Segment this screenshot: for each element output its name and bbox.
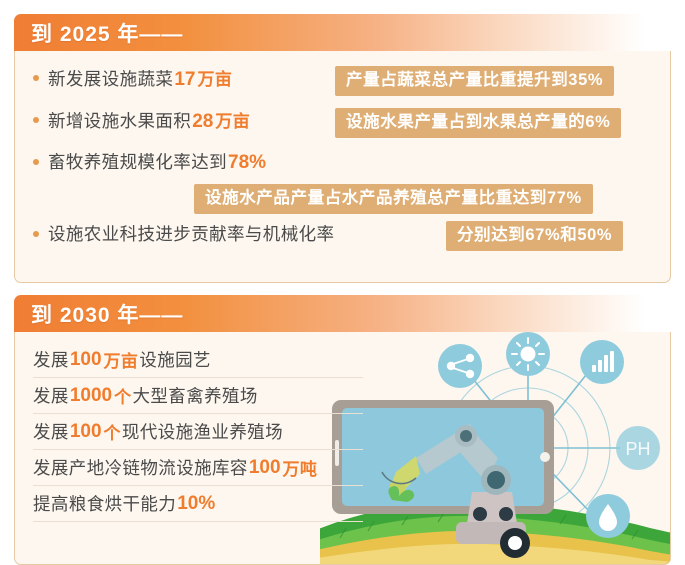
item-number: 100 (69, 421, 103, 443)
badge-2025-2: 设施水果产量占到水果总产量的6% (335, 108, 621, 138)
infographic-page: 到 2025 年—— 新发展设施蔬菜17万亩 产量占蔬菜总产量比重提升到35% … (0, 0, 685, 565)
item-pre: 发展 (33, 419, 69, 444)
row-unit (336, 225, 338, 244)
row-unit: 万亩 (196, 70, 233, 89)
section-2025-body: 新发展设施蔬菜17万亩 产量占蔬菜总产量比重提升到35% 新增设施水果面积28万… (14, 51, 671, 283)
badge-2025-4: 分别达到67%和50% (446, 221, 623, 251)
list-item: 畜牧养殖规模化率达到78% (33, 149, 269, 174)
item-pre: 发展 (33, 347, 69, 372)
row-pre: 新增设施水果面积 (48, 111, 191, 131)
row-text: 新发展设施蔬菜17万亩 (48, 65, 233, 91)
water-drop-icon (586, 494, 630, 538)
row-pre: 设施农业科技进步贡献率与机械化率 (48, 224, 334, 244)
section-2030-card: 到 2030 年—— (14, 295, 671, 565)
section-2030-body: PH 发展100万亩设施园艺 发展1000个大型畜禽养殖场 发 (14, 332, 671, 565)
svg-text:PH: PH (625, 439, 650, 459)
section-2025-header: 到 2025 年—— (14, 14, 671, 51)
item-unit: 个 (103, 419, 122, 444)
row-number: 78% (227, 152, 267, 173)
badge-2025-3: 设施水产品产量占水产品养殖总产量比重达到77% (194, 184, 593, 214)
bullet-dot-icon (33, 117, 39, 123)
section-2025-title: 到 2025 年—— (14, 18, 183, 48)
list-item: 发展1000个大型畜禽养殖场 (33, 378, 363, 414)
section-2030-title: 到 2030 年—— (14, 299, 183, 329)
row-text: 畜牧养殖规模化率达到78% (48, 149, 269, 174)
ph-sensor-icon: PH (616, 426, 660, 470)
item-unit: 万吨 (282, 455, 319, 480)
item-pre: 发展产地冷链物流设施库容 (33, 455, 248, 480)
item-pre: 提高粮食烘干能力 (33, 491, 176, 516)
list-item: 新增设施水果面积28万亩 (33, 107, 251, 133)
row-unit: 万亩 (214, 112, 251, 131)
network-share-icon (438, 344, 482, 388)
item-unit: 个 (113, 383, 132, 408)
list-item: 设施农业科技进步贡献率与机械化率 (33, 221, 338, 246)
item-number: 1000 (69, 385, 113, 407)
list-item: 提高粮食烘干能力10% (33, 486, 363, 522)
row-text: 设施农业科技进步贡献率与机械化率 (48, 221, 338, 246)
bullet-dot-icon (33, 231, 39, 237)
row-unit (267, 153, 269, 172)
item-post: 大型畜禽养殖场 (133, 383, 258, 408)
item-unit: 万亩 (103, 347, 140, 372)
item-number: 10% (176, 493, 216, 515)
signal-bars-icon (580, 340, 624, 384)
smart-agriculture-iot-illustration: PH (320, 332, 670, 565)
section-2030-list: 发展100万亩设施园艺 发展1000个大型畜禽养殖场 发展100个现代设施渔业养… (33, 342, 363, 522)
item-number: 100 (248, 457, 282, 479)
section-2025-card: 到 2025 年—— 新发展设施蔬菜17万亩 产量占蔬菜总产量比重提升到35% … (14, 14, 671, 283)
list-item: 发展100万亩设施园艺 (33, 342, 363, 378)
row-pre: 新发展设施蔬菜 (48, 69, 173, 89)
item-post: 设施园艺 (139, 347, 211, 372)
row-number: 17 (173, 69, 196, 90)
item-number: 100 (69, 349, 103, 371)
sun-icon (506, 332, 550, 376)
list-item: 新发展设施蔬菜17万亩 (33, 65, 233, 91)
list-item: 发展产地冷链物流设施库容100万吨 (33, 450, 363, 486)
badge-2025-1: 产量占蔬菜总产量比重提升到35% (335, 66, 614, 96)
item-pre: 发展 (33, 383, 69, 408)
row-pre: 畜牧养殖规模化率达到 (48, 152, 227, 172)
item-post: 现代设施渔业养殖场 (122, 419, 283, 444)
bullet-dot-icon (33, 75, 39, 81)
list-item: 发展100个现代设施渔业养殖场 (33, 414, 363, 450)
section-2030-header: 到 2030 年—— (14, 295, 671, 332)
row-number: 28 (191, 111, 214, 132)
bullet-dot-icon (33, 159, 39, 165)
row-text: 新增设施水果面积28万亩 (48, 107, 251, 133)
